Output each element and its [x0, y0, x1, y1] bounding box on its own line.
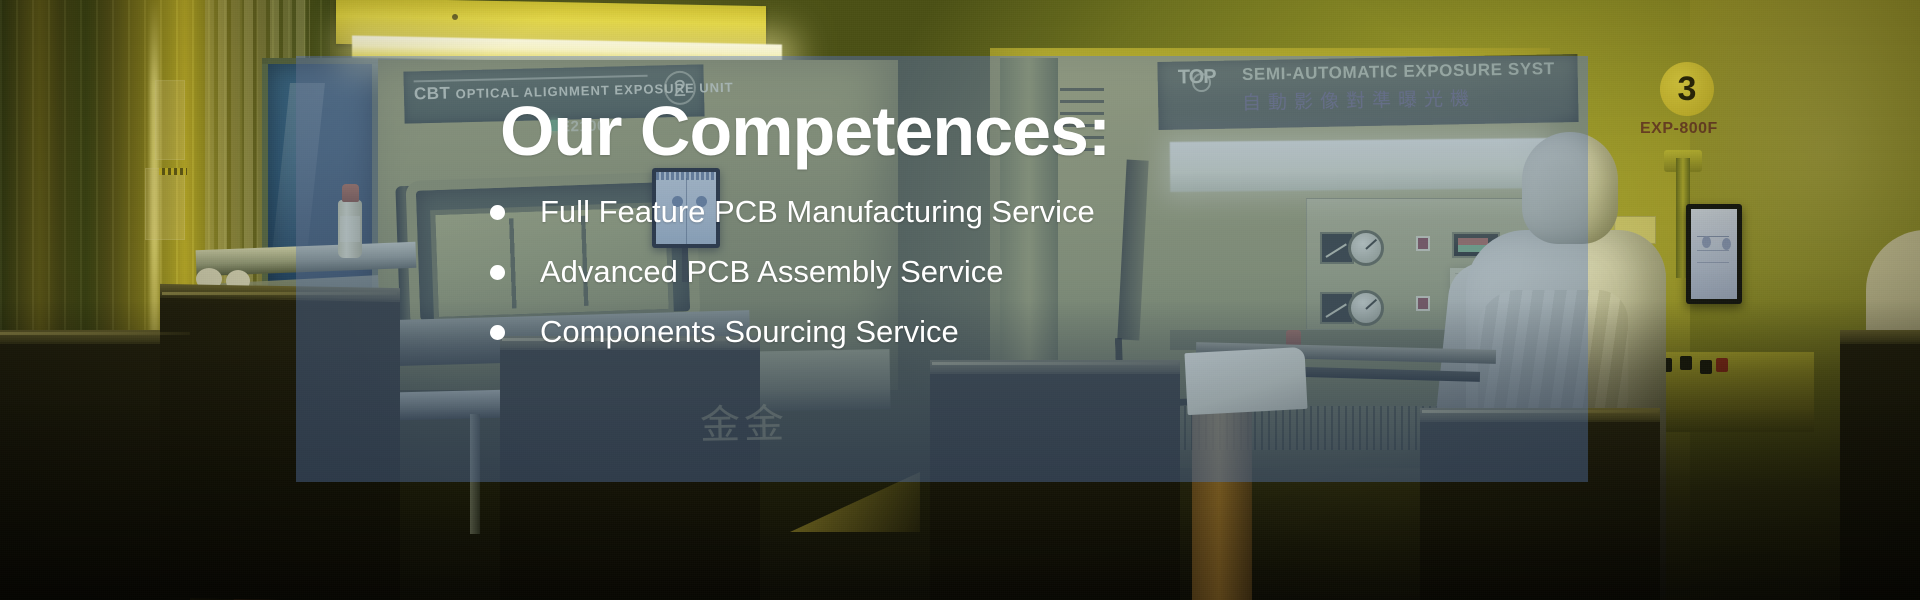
lamp-screw	[452, 14, 458, 20]
list-item-label: Full Feature PCB Manufacturing Service	[540, 194, 1095, 229]
crate-rim	[0, 332, 190, 335]
list-item: Full Feature PCB Manufacturing Service	[484, 196, 1095, 227]
bullet-dot-icon	[490, 265, 505, 280]
wall-badge-strip	[159, 168, 187, 175]
equipment-crate	[1840, 330, 1920, 600]
bullet-dot-icon	[490, 325, 505, 340]
wall-monitor-screen	[1691, 209, 1737, 299]
text-overlay-panel: Our Competences: Full Feature PCB Manufa…	[296, 56, 1588, 482]
hero-banner: CBT OPTICAL ALIGNMENT EXPOSURE UNIT 2 E2…	[0, 0, 1920, 600]
wall-monitor-dot	[1702, 236, 1711, 248]
top-model-text: EXP-800F	[1640, 120, 1718, 138]
wall-monitor	[1686, 204, 1742, 304]
banner-text-block: Our Competences: Full Feature PCB Manufa…	[296, 56, 1588, 482]
list-item-label: Components Sourcing Service	[540, 314, 959, 349]
list-item: Components Sourcing Service	[484, 316, 1095, 347]
wall-notice	[155, 80, 185, 160]
bullet-dot-icon	[490, 205, 505, 220]
list-item-label: Advanced PCB Assembly Service	[540, 254, 1004, 289]
top-station-number: 3	[1660, 62, 1714, 116]
wall-monitor-dot	[1722, 238, 1731, 250]
competences-list: Full Feature PCB Manufacturing Service A…	[484, 196, 1095, 376]
page-title: Our Competences:	[500, 96, 1110, 166]
wall-notice	[145, 168, 185, 240]
list-item: Advanced PCB Assembly Service	[484, 256, 1095, 287]
